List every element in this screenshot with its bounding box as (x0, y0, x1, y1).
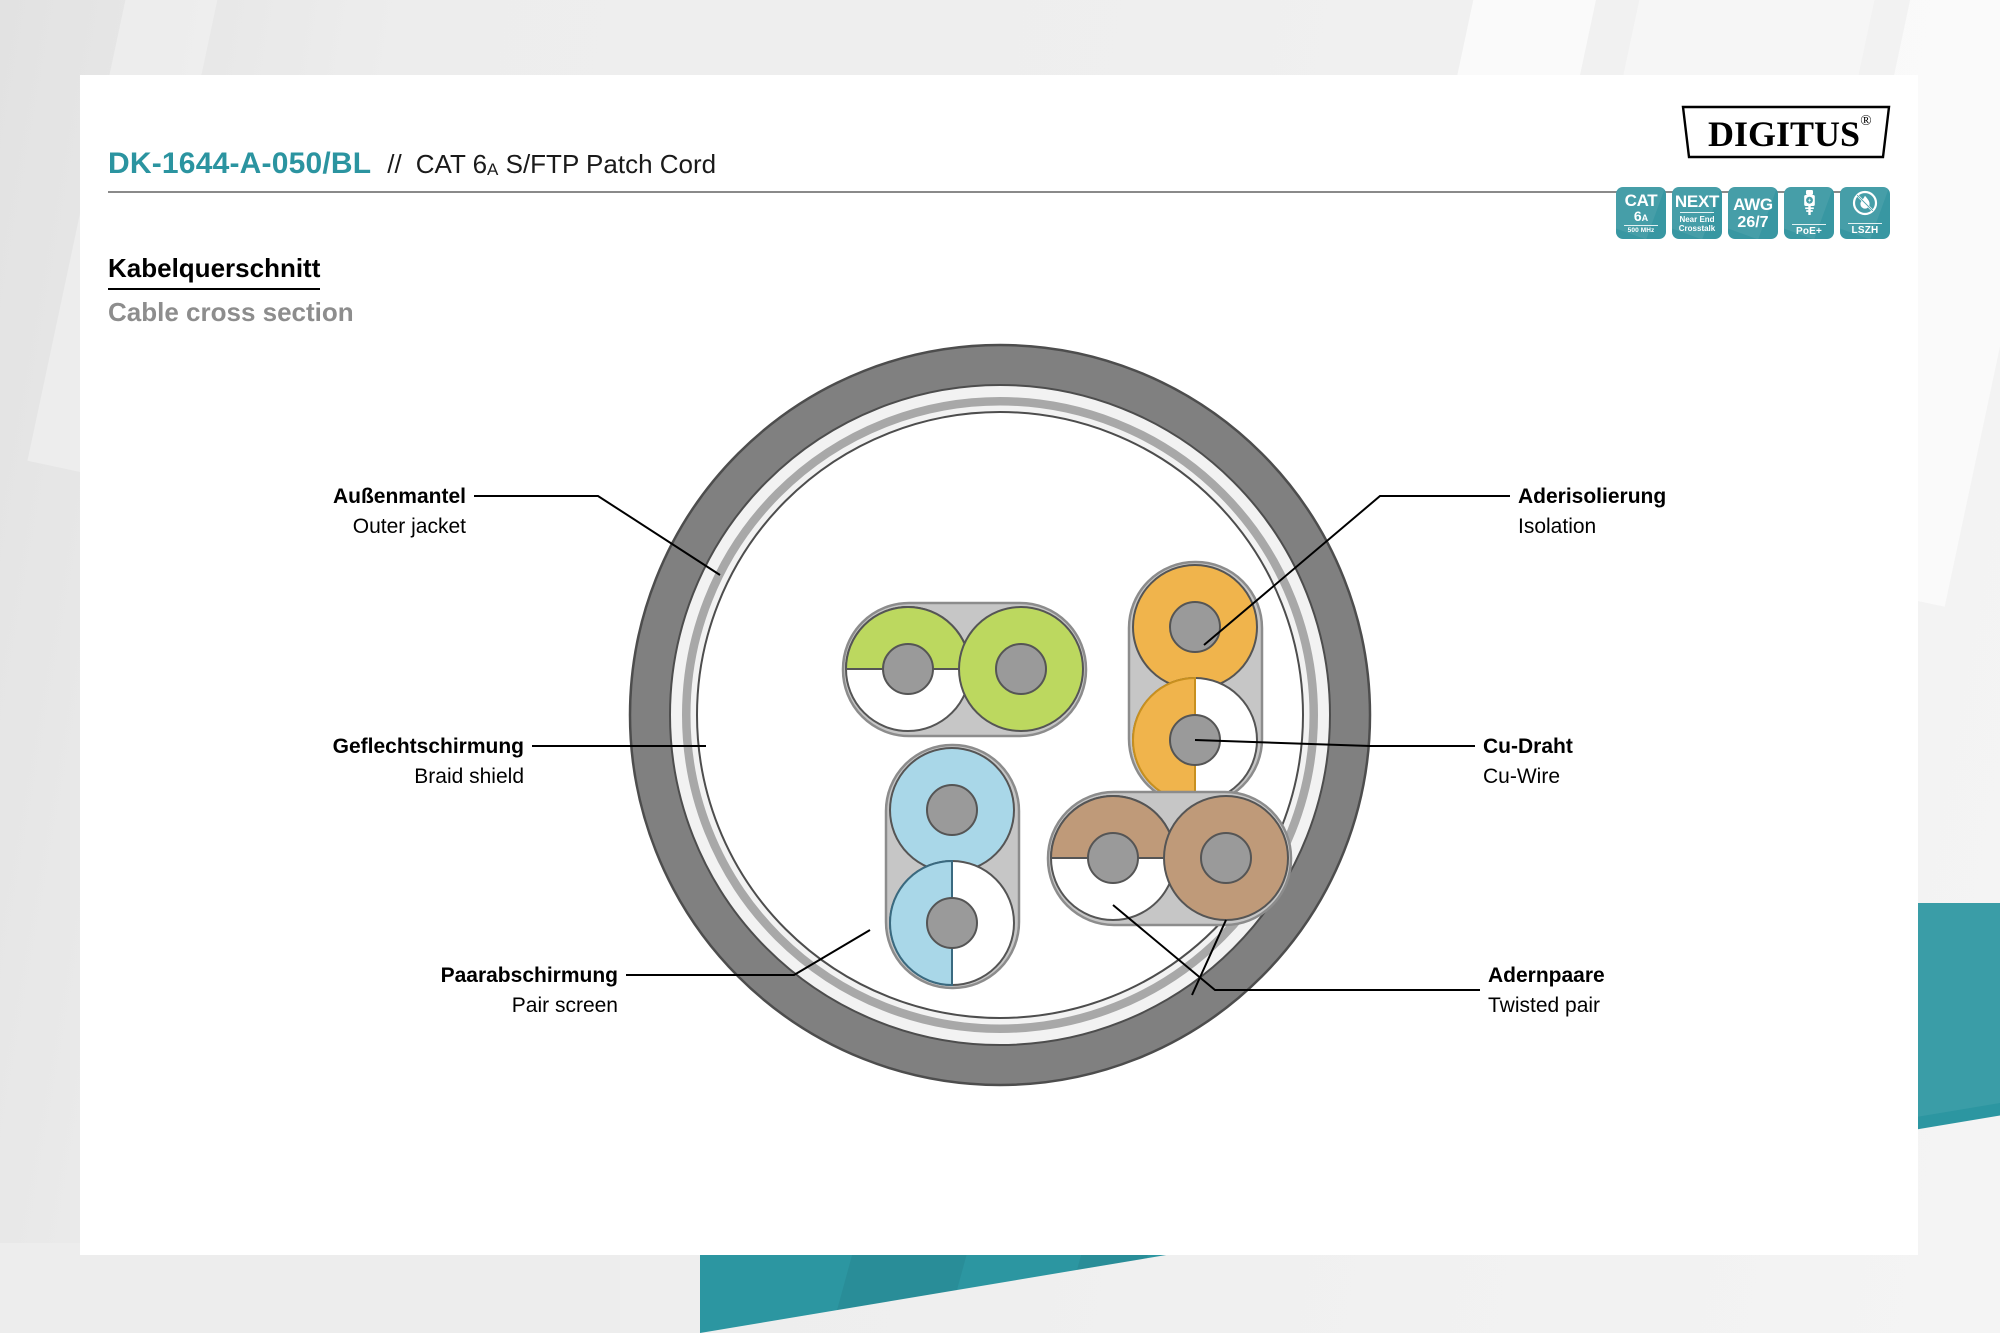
green-wire-striped (846, 607, 970, 731)
blue-wire-solid (890, 748, 1014, 872)
orange-pair (1129, 562, 1262, 805)
label-pair-screen-de: Paarabschirmung (441, 964, 618, 987)
label-twisted-pair-en: Twisted pair (1488, 994, 1600, 1017)
background-bottom-strip (0, 1243, 620, 1333)
content-card: DIGITUS ® DK-1644-A-050/BL // CAT 6A S/F… (80, 75, 1918, 1255)
label-braid-shield: Geflechtschirmung Braid shield (333, 735, 524, 788)
label-cu-wire: Cu-Draht Cu-Wire (1483, 735, 1573, 788)
blue-wire-striped (890, 861, 1014, 985)
label-isolation-de: Aderisolierung (1518, 485, 1666, 508)
label-braid-shield-de: Geflechtschirmung (333, 735, 524, 758)
blue-pair (886, 745, 1019, 988)
brown-pair (1048, 792, 1291, 925)
orange-wire-solid (1133, 565, 1257, 689)
label-cu-wire-en: Cu-Wire (1483, 765, 1560, 788)
label-pair-screen: Paarabschirmung Pair screen (441, 964, 618, 1017)
label-twisted-pair: Adernpaare Twisted pair (1488, 964, 1605, 1017)
label-braid-shield-en: Braid shield (414, 765, 524, 788)
cable-cross-section-diagram: Außenmantel Outer jacket Geflechtschirmu… (80, 75, 1918, 1255)
label-isolation: Aderisolierung Isolation (1518, 485, 1666, 538)
brown-wire-striped (1051, 796, 1175, 920)
label-cu-wire-de: Cu-Draht (1483, 735, 1573, 758)
label-isolation-en: Isolation (1518, 515, 1596, 538)
label-twisted-pair-de: Adernpaare (1488, 964, 1605, 987)
green-wire-solid (959, 607, 1083, 731)
label-outer-jacket-en: Outer jacket (353, 515, 466, 538)
label-outer-jacket: Außenmantel Outer jacket (333, 485, 466, 538)
brown-wire-solid (1164, 796, 1288, 920)
green-pair (843, 603, 1086, 736)
label-pair-screen-en: Pair screen (512, 994, 618, 1017)
label-outer-jacket-de: Außenmantel (333, 485, 466, 508)
